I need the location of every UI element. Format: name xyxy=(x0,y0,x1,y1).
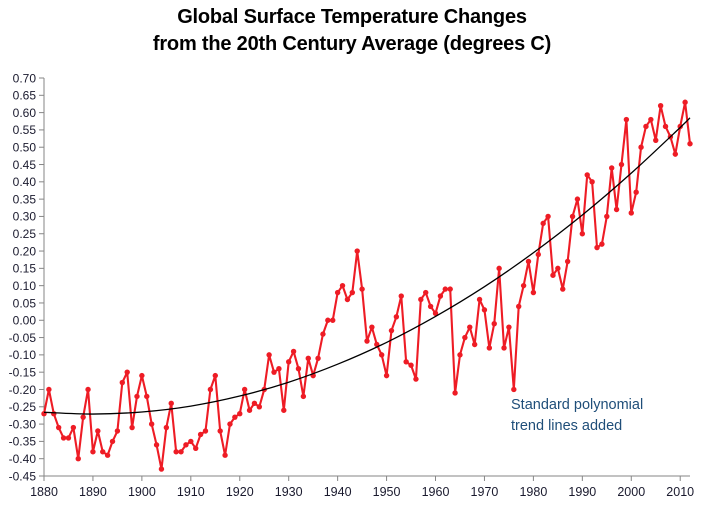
data-point xyxy=(237,411,242,416)
data-point xyxy=(643,124,648,129)
data-point xyxy=(526,259,531,264)
data-point xyxy=(359,286,364,291)
trend-line xyxy=(44,118,690,414)
data-point xyxy=(496,266,501,271)
data-point xyxy=(555,266,560,271)
data-point xyxy=(281,408,286,413)
data-point xyxy=(570,214,575,219)
x-tick-label: 1970 xyxy=(471,485,499,499)
y-tick-label: 0.70 xyxy=(13,71,37,85)
data-point xyxy=(673,151,678,156)
data-point xyxy=(428,304,433,309)
data-point xyxy=(638,145,643,150)
data-point xyxy=(560,286,565,291)
data-point xyxy=(687,141,692,146)
data-point xyxy=(355,248,360,253)
data-point xyxy=(325,318,330,323)
data-point xyxy=(315,356,320,361)
data-point xyxy=(110,439,115,444)
data-point xyxy=(139,373,144,378)
data-point xyxy=(609,165,614,170)
data-point xyxy=(183,442,188,447)
x-tick-label: 1960 xyxy=(422,485,450,499)
chart-container: Global Surface Temperature Changes from … xyxy=(0,0,704,507)
data-point xyxy=(306,356,311,361)
data-point xyxy=(80,414,85,419)
data-point xyxy=(629,210,634,215)
data-point xyxy=(198,432,203,437)
data-point xyxy=(257,404,262,409)
data-point xyxy=(286,359,291,364)
x-tick-label: 1910 xyxy=(177,485,205,499)
data-point xyxy=(208,387,213,392)
x-tick-label: 1950 xyxy=(373,485,401,499)
data-point xyxy=(159,466,164,471)
data-point xyxy=(585,172,590,177)
x-axis-ticks: 1880189019001910192019301940195019601970… xyxy=(30,476,694,499)
data-point xyxy=(477,297,482,302)
data-point xyxy=(188,439,193,444)
data-point xyxy=(663,124,668,129)
data-point xyxy=(66,435,71,440)
data-point xyxy=(682,100,687,105)
data-point xyxy=(594,245,599,250)
data-point xyxy=(540,221,545,226)
y-axis-ticks: 0.700.650.600.550.500.450.400.350.300.25… xyxy=(9,71,44,483)
data-point xyxy=(394,314,399,319)
y-tick-label: -0.25 xyxy=(9,400,37,414)
data-point xyxy=(413,376,418,381)
temperature-series-line xyxy=(44,102,690,469)
data-point xyxy=(85,387,90,392)
data-point xyxy=(438,293,443,298)
data-point xyxy=(51,411,56,416)
data-point xyxy=(443,286,448,291)
y-tick-label: 0.45 xyxy=(13,158,37,172)
data-point xyxy=(164,425,169,430)
y-tick-label: 0.15 xyxy=(13,262,37,276)
y-tick-label: 0.25 xyxy=(13,227,37,241)
data-point xyxy=(144,394,149,399)
data-point xyxy=(90,449,95,454)
data-point xyxy=(599,241,604,246)
data-point xyxy=(472,342,477,347)
data-point xyxy=(291,349,296,354)
data-point xyxy=(173,449,178,454)
data-point xyxy=(408,363,413,368)
data-point xyxy=(604,214,609,219)
y-tick-label: 0.60 xyxy=(13,106,37,120)
data-point xyxy=(193,446,198,451)
data-point xyxy=(320,331,325,336)
data-point xyxy=(340,283,345,288)
data-point xyxy=(129,425,134,430)
y-tick-label: -0.40 xyxy=(9,452,37,466)
data-point xyxy=(232,414,237,419)
annotation-line-2: trend lines added xyxy=(511,418,622,434)
data-point xyxy=(619,162,624,167)
data-point xyxy=(213,373,218,378)
data-point xyxy=(149,421,154,426)
data-point xyxy=(658,103,663,108)
data-point xyxy=(482,307,487,312)
data-point xyxy=(71,425,76,430)
temperature-series-markers xyxy=(41,100,692,472)
data-point xyxy=(271,369,276,374)
data-point xyxy=(580,231,585,236)
data-point xyxy=(589,179,594,184)
data-point xyxy=(531,290,536,295)
y-tick-label: 0.40 xyxy=(13,175,37,189)
data-point xyxy=(345,297,350,302)
data-point xyxy=(648,117,653,122)
data-point xyxy=(384,373,389,378)
data-point xyxy=(154,442,159,447)
data-point xyxy=(115,428,120,433)
data-point xyxy=(575,196,580,201)
data-point xyxy=(178,449,183,454)
data-point xyxy=(516,304,521,309)
data-point xyxy=(134,394,139,399)
data-point xyxy=(301,394,306,399)
y-tick-label: -0.30 xyxy=(9,417,37,431)
data-point xyxy=(335,290,340,295)
data-point xyxy=(614,207,619,212)
y-tick-label: -0.35 xyxy=(9,435,37,449)
data-point xyxy=(653,138,658,143)
data-point xyxy=(105,453,110,458)
x-tick-label: 1900 xyxy=(128,485,156,499)
data-point xyxy=(125,369,130,374)
x-tick-label: 1930 xyxy=(275,485,303,499)
y-tick-label: 0.35 xyxy=(13,192,37,206)
x-tick-label: 2010 xyxy=(666,485,694,499)
data-point xyxy=(95,428,100,433)
y-tick-label: -0.15 xyxy=(9,365,37,379)
data-point xyxy=(403,359,408,364)
data-point xyxy=(423,290,428,295)
x-tick-label: 1920 xyxy=(226,485,254,499)
data-point xyxy=(330,318,335,323)
data-point xyxy=(379,352,384,357)
data-point xyxy=(521,283,526,288)
y-tick-label: 0.65 xyxy=(13,89,37,103)
data-point xyxy=(46,387,51,392)
chart-plot: 0.700.650.600.550.500.450.400.350.300.25… xyxy=(0,0,704,507)
data-point xyxy=(76,456,81,461)
data-point xyxy=(501,345,506,350)
data-point xyxy=(624,117,629,122)
data-point xyxy=(222,453,227,458)
data-point xyxy=(506,324,511,329)
x-tick-label: 1880 xyxy=(30,485,58,499)
data-point xyxy=(448,286,453,291)
data-point xyxy=(217,428,222,433)
data-point xyxy=(536,252,541,257)
y-tick-label: -0.45 xyxy=(9,469,37,483)
data-point xyxy=(369,324,374,329)
data-point xyxy=(452,390,457,395)
data-point xyxy=(487,345,492,350)
y-tick-label: 0.00 xyxy=(13,314,37,328)
y-tick-label: -0.20 xyxy=(9,383,37,397)
data-point xyxy=(61,435,66,440)
data-point xyxy=(462,335,467,340)
data-point xyxy=(364,338,369,343)
data-point xyxy=(492,321,497,326)
data-point xyxy=(120,380,125,385)
x-tick-label: 2000 xyxy=(617,485,645,499)
data-point xyxy=(418,297,423,302)
annotation-line-1: Standard polynomial xyxy=(511,397,643,413)
data-point xyxy=(266,352,271,357)
data-point xyxy=(100,449,105,454)
y-tick-label: 0.55 xyxy=(13,123,37,137)
data-point xyxy=(169,401,174,406)
data-point xyxy=(350,290,355,295)
y-tick-label: 0.20 xyxy=(13,244,37,258)
data-point xyxy=(399,293,404,298)
data-point xyxy=(227,421,232,426)
y-tick-label: 0.10 xyxy=(13,279,37,293)
y-tick-label: -0.10 xyxy=(9,348,37,362)
data-point xyxy=(389,328,394,333)
data-point xyxy=(565,259,570,264)
data-point xyxy=(545,214,550,219)
y-tick-label: -0.05 xyxy=(9,331,37,345)
data-point xyxy=(296,366,301,371)
data-point xyxy=(457,352,462,357)
x-tick-label: 1990 xyxy=(568,485,596,499)
x-tick-label: 1980 xyxy=(519,485,547,499)
y-tick-label: 0.30 xyxy=(13,210,37,224)
data-point xyxy=(203,428,208,433)
data-point xyxy=(467,324,472,329)
y-tick-label: 0.50 xyxy=(13,141,37,155)
data-point xyxy=(550,273,555,278)
x-tick-label: 1890 xyxy=(79,485,107,499)
data-point xyxy=(276,366,281,371)
y-tick-label: 0.05 xyxy=(13,296,37,310)
data-point xyxy=(511,387,516,392)
x-tick-label: 1940 xyxy=(324,485,352,499)
data-point xyxy=(242,387,247,392)
data-point xyxy=(56,425,61,430)
data-point xyxy=(247,408,252,413)
data-point xyxy=(252,401,257,406)
data-point xyxy=(633,190,638,195)
